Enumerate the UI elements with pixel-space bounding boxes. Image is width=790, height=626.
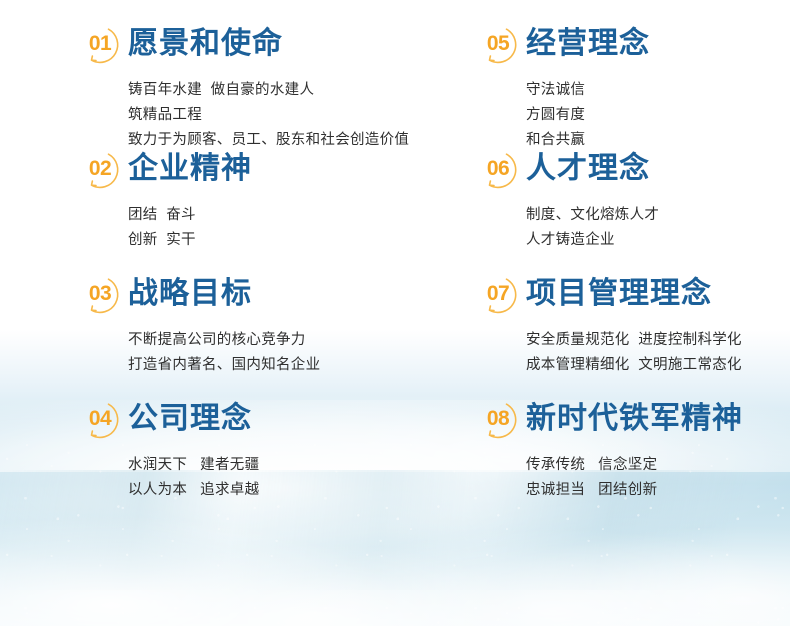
section-line: 方圆有度 (526, 103, 790, 128)
section-header: 08 新时代铁军精神 (476, 397, 790, 441)
section-number: 06 (487, 158, 509, 180)
section-header: 06 人才理念 (476, 147, 790, 191)
section-line: 忠诚担当 团结创新 (526, 478, 790, 503)
sections-grid: 01 愿景和使命 铸百年水建 做自豪的水建人 筑精品工程 致力于为顾客、员工、股… (0, 0, 790, 626)
section-lines: 传承传统 信念坚定 忠诚担当 团结创新 (476, 453, 790, 503)
section-line: 成本管理精细化 文明施工常态化 (526, 353, 790, 378)
culture-poster: 01 愿景和使命 铸百年水建 做自豪的水建人 筑精品工程 致力于为顾客、员工、股… (0, 0, 790, 626)
section-number: 07 (487, 283, 509, 305)
number-badge-ring-icon: 06 (476, 147, 520, 191)
section-line: 守法诚信 (526, 78, 790, 103)
section-header: 05 经营理念 (476, 22, 790, 66)
section-card-08: 08 新时代铁军精神 传承传统 信念坚定 忠诚担当 团结创新 (0, 397, 790, 522)
section-lines: 安全质量规范化 进度控制科学化 成本管理精细化 文明施工常态化 (476, 328, 790, 378)
section-title: 经营理念 (526, 27, 650, 61)
section-card-07: 07 项目管理理念 安全质量规范化 进度控制科学化 成本管理精细化 文明施工常态… (0, 272, 790, 397)
section-title: 人才理念 (526, 152, 650, 186)
number-badge-ring-icon: 05 (476, 22, 520, 66)
section-lines: 守法诚信 方圆有度 和合共赢 (476, 78, 790, 153)
section-title: 项目管理理念 (526, 277, 712, 311)
section-card-06: 06 人才理念 制度、文化熔炼人才 人才铸造企业 (0, 147, 790, 272)
section-line: 传承传统 信念坚定 (526, 453, 790, 478)
number-badge-ring-icon: 08 (476, 397, 520, 441)
section-card-05: 05 经营理念 守法诚信 方圆有度 和合共赢 (0, 22, 790, 147)
section-title: 新时代铁军精神 (526, 402, 743, 436)
section-number: 08 (487, 408, 509, 430)
section-lines: 制度、文化熔炼人才 人才铸造企业 (476, 203, 790, 253)
section-number: 05 (487, 33, 509, 55)
section-line: 人才铸造企业 (526, 228, 790, 253)
section-header: 07 项目管理理念 (476, 272, 790, 316)
section-line: 安全质量规范化 进度控制科学化 (526, 328, 790, 353)
number-badge-ring-icon: 07 (476, 272, 520, 316)
section-line: 制度、文化熔炼人才 (526, 203, 790, 228)
